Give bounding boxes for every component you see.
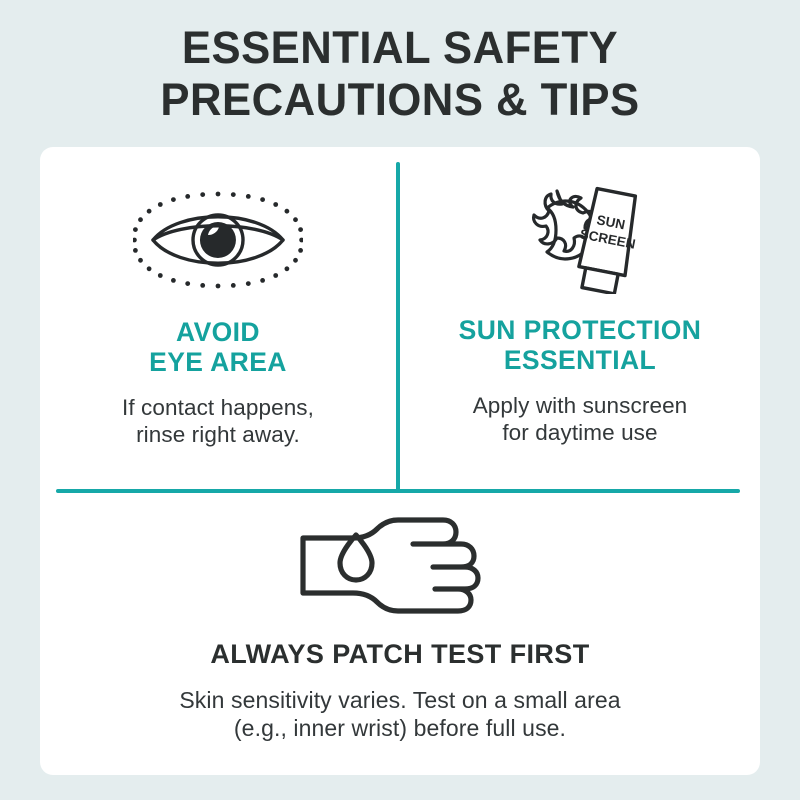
tip-heading-line-1: AVOID [149,317,287,347]
eye-icon [133,185,303,295]
tip-heading-line-1: ALWAYS PATCH TEST FIRST [210,639,589,669]
page-title-line-2: PRECAUTIONS & TIPS [12,74,788,126]
tip-body-line-2: (e.g., inner wrist) before full use. [179,714,620,742]
tip-heading-sun-protection: SUN PROTECTION ESSENTIAL [459,315,702,375]
tip-heading-line-2: ESSENTIAL [459,345,702,375]
tip-heading-patch-test: ALWAYS PATCH TEST FIRST [210,639,589,669]
horizontal-divider [56,489,740,493]
tip-card-sun-protection: SUN SCREEN SUN PROTECTION ESSENTIAL Appl… [400,165,760,446]
sunscreen-tube-with-sun-icon: SUN SCREEN [495,179,665,294]
tip-body-line-2: for daytime use [473,419,688,446]
page-title-line-1: ESSENTIAL SAFETY [12,22,788,74]
tip-heading-line-1: SUN PROTECTION [459,315,702,345]
tip-body-patch-test: Skin sensitivity varies. Test on a small… [179,686,620,742]
tip-card-patch-test: ALWAYS PATCH TEST FIRST Skin sensitivity… [40,497,760,742]
tip-body-line-1: Apply with sunscreen [473,392,688,419]
safety-tips-infographic: ESSENTIAL SAFETY PRECAUTIONS & TIPS [0,0,800,800]
tip-body-line-1: If contact happens, [122,394,314,421]
page-title: ESSENTIAL SAFETY PRECAUTIONS & TIPS [0,22,800,126]
tip-body-avoid-eye-area: If contact happens, rinse right away. [122,394,314,448]
tip-body-line-1: Skin sensitivity varies. Test on a small… [179,686,620,714]
tip-heading-line-2: EYE AREA [149,347,287,377]
hand-with-droplet-icon [293,511,508,621]
tip-body-sun-protection: Apply with sunscreen for daytime use [473,392,688,446]
tip-heading-avoid-eye-area: AVOID EYE AREA [149,317,287,377]
tip-body-line-2: rinse right away. [122,421,314,448]
tip-card-avoid-eye-area: AVOID EYE AREA If contact happens, rinse… [40,165,396,448]
